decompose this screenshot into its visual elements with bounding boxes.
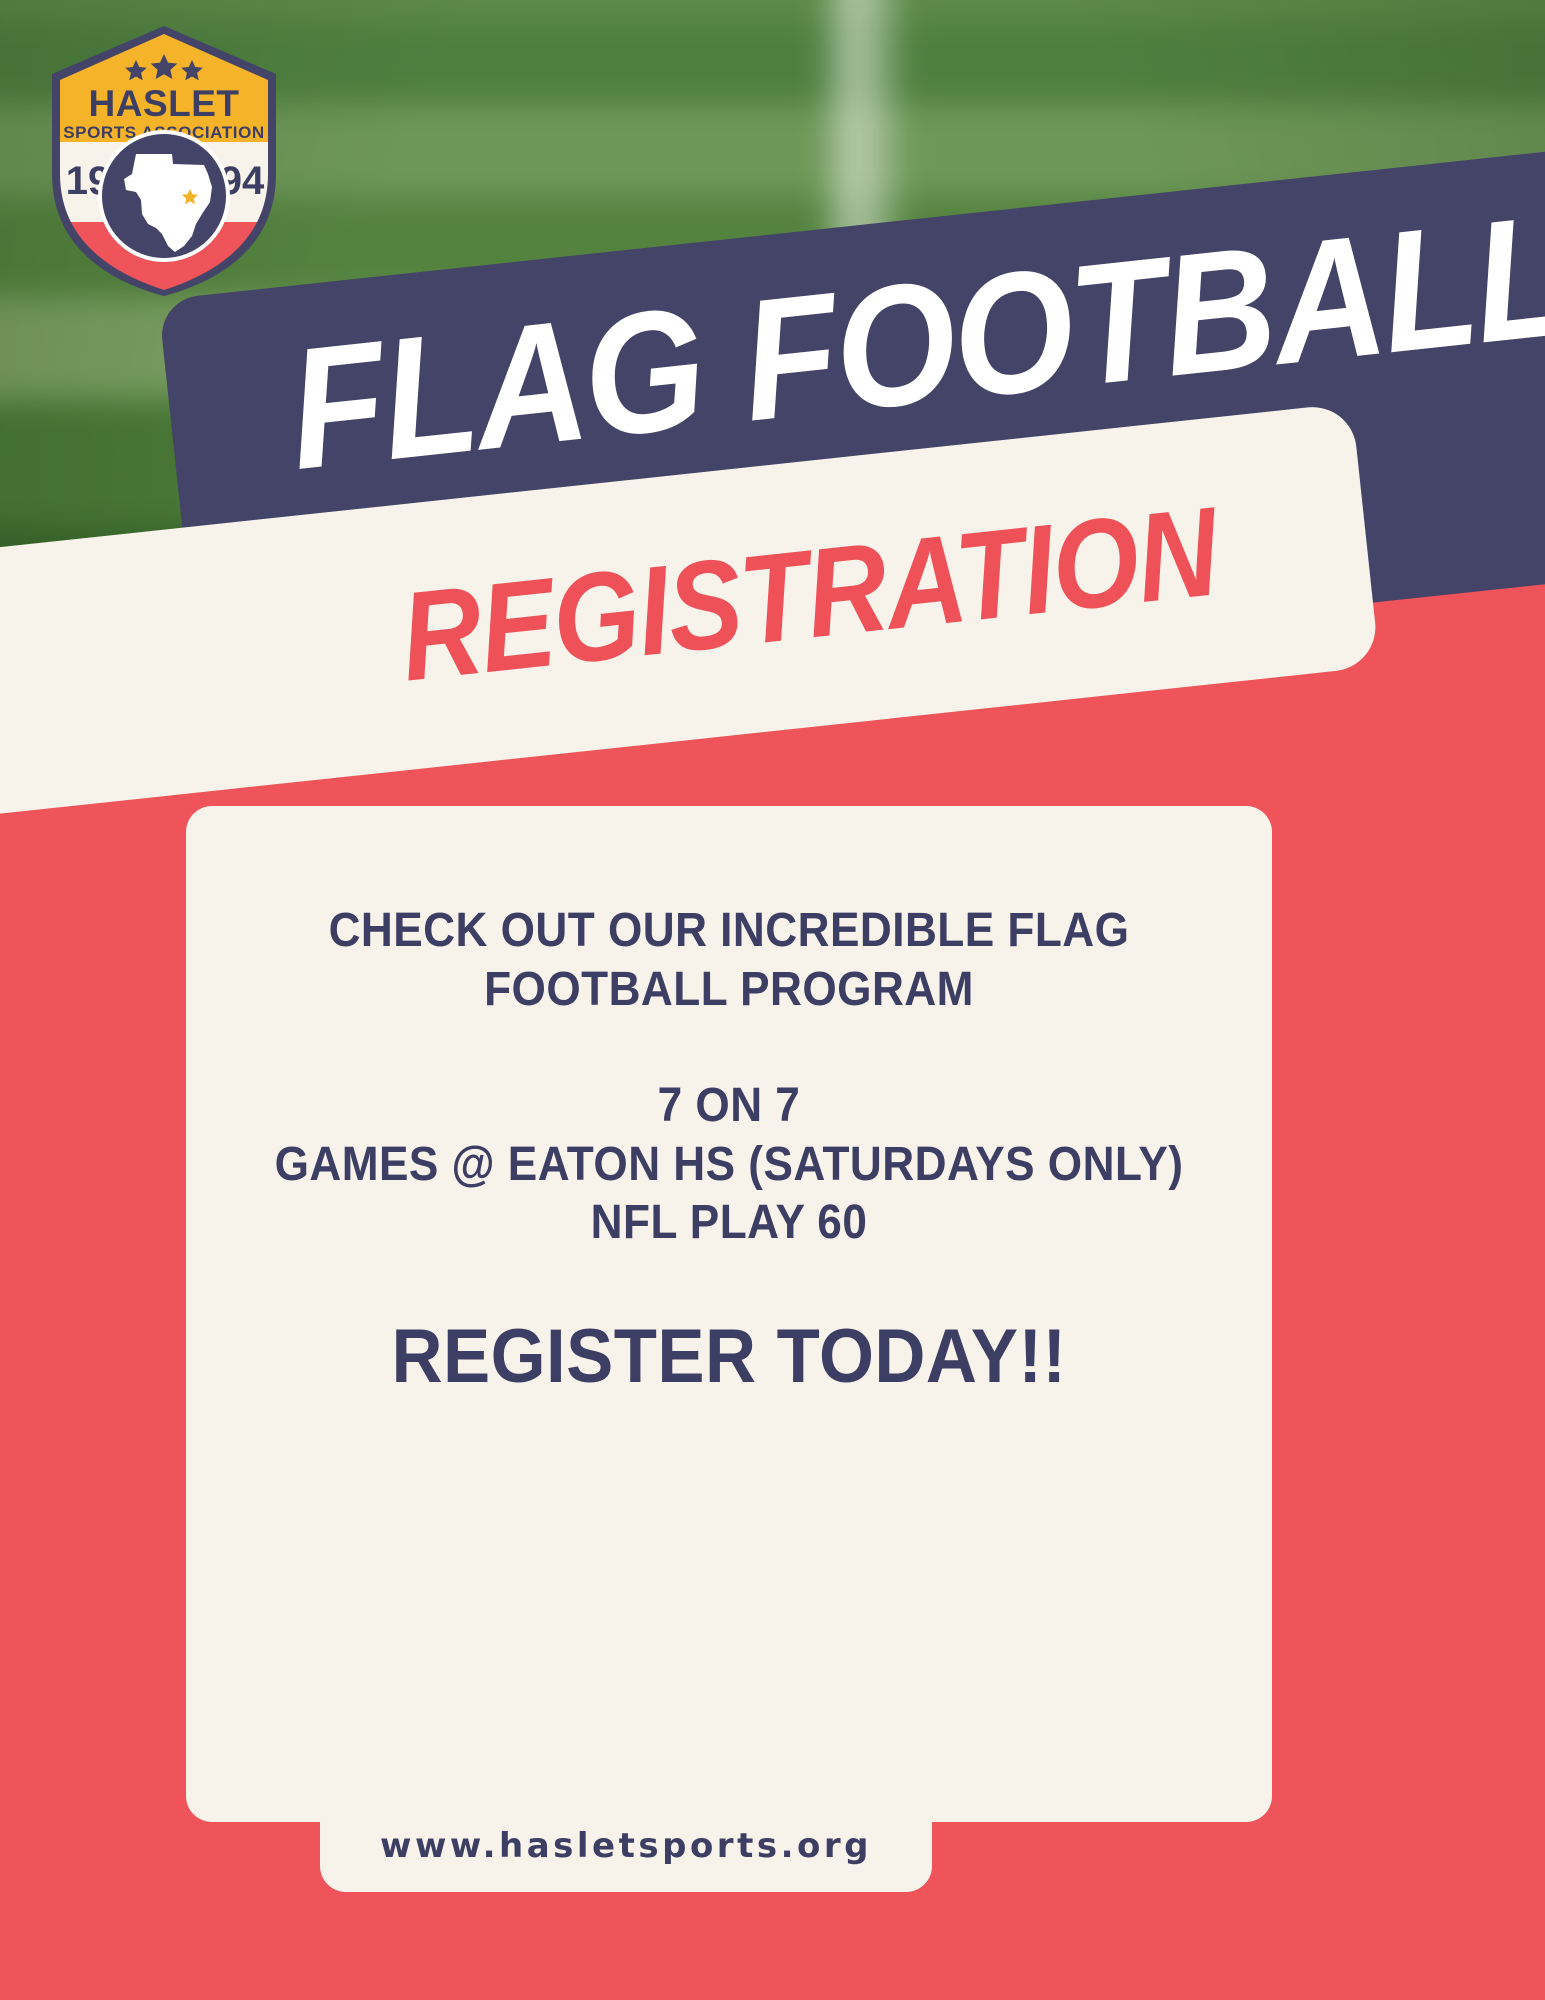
flyer-poster: FLAG FOOTBALL REGISTRATION CHECK OUT OUR… [0,0,1545,2000]
flyer-subtitle: REGISTRATION [396,488,1224,700]
detail-line-venue: GAMES @ EATON HS (SATURDAYS ONLY) [229,1136,1228,1195]
haslet-sports-association-logo: HASLET SPORTS ASSOCIATION 19 94 [44,24,284,296]
detail-line-program: NFL PLAY 60 [229,1194,1228,1253]
program-intro-text: CHECK OUT OUR INCREDIBLE FLAG FOOTBALL P… [306,902,1152,1019]
detail-line-format: 7 ON 7 [229,1077,1228,1136]
website-url[interactable]: www.hasletsports.org [320,1826,932,1866]
content-card: CHECK OUT OUR INCREDIBLE FLAG FOOTBALL P… [186,806,1272,1822]
logo-name-text: HASLET [89,83,240,124]
call-to-action-text: REGISTER TODAY!! [224,1315,1234,1399]
spacer-2 [186,1253,1272,1315]
spacer-1 [186,1019,1272,1077]
